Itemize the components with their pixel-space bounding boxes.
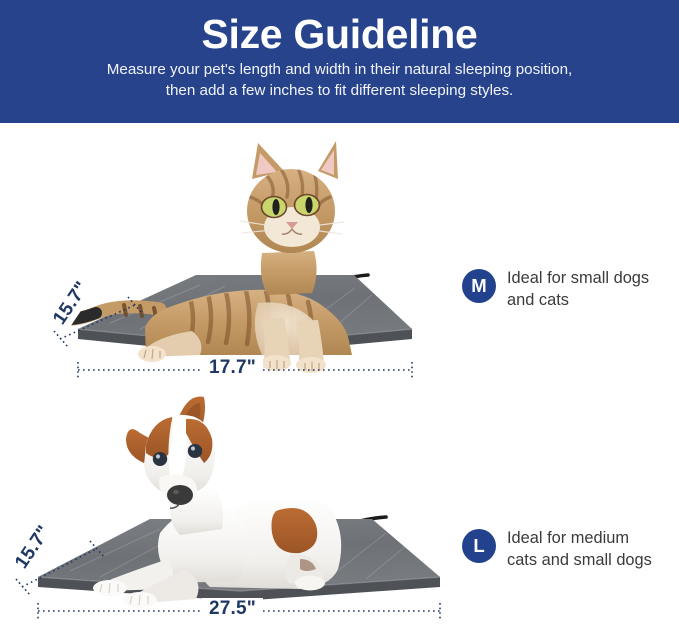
size-badge-large: L [462,529,496,563]
recommendation-line-1: Ideal for medium [507,528,652,550]
size-recommendation-medium: Ideal for small dogs and cats [507,268,649,311]
cat-on-mat-illustration: 17.7" 15.7" [0,123,470,383]
size-section-medium: 17.7" 15.7" [0,123,679,383]
dog-illustration [93,397,341,608]
header-subtitle-line-2: then add a few inches to fit different s… [166,81,514,102]
size-section-large: 27.5" 15.7" [0,383,679,628]
recommendation-line-2: and cats [507,290,649,312]
width-dimension-label-medium: 17.7" [202,357,263,379]
size-callout-large: L Ideal for medium cats and small dogs [462,528,652,571]
size-badge-medium: M [462,269,496,303]
size-callout-medium: M Ideal for small dogs and cats [462,268,649,311]
width-dimension-label-large: 27.5" [202,598,263,620]
header-banner: Size Guideline Measure your pet's length… [0,0,679,123]
size-recommendation-large: Ideal for medium cats and small dogs [507,528,652,571]
header-subtitle-line-1: Measure your pet's length and width in t… [107,60,573,81]
page-title: Size Guideline [201,8,477,60]
dog-on-mat-illustration: 27.5" 15.7" [0,383,470,628]
recommendation-line-2: cats and small dogs [507,550,652,572]
recommendation-line-1: Ideal for small dogs [507,268,649,290]
